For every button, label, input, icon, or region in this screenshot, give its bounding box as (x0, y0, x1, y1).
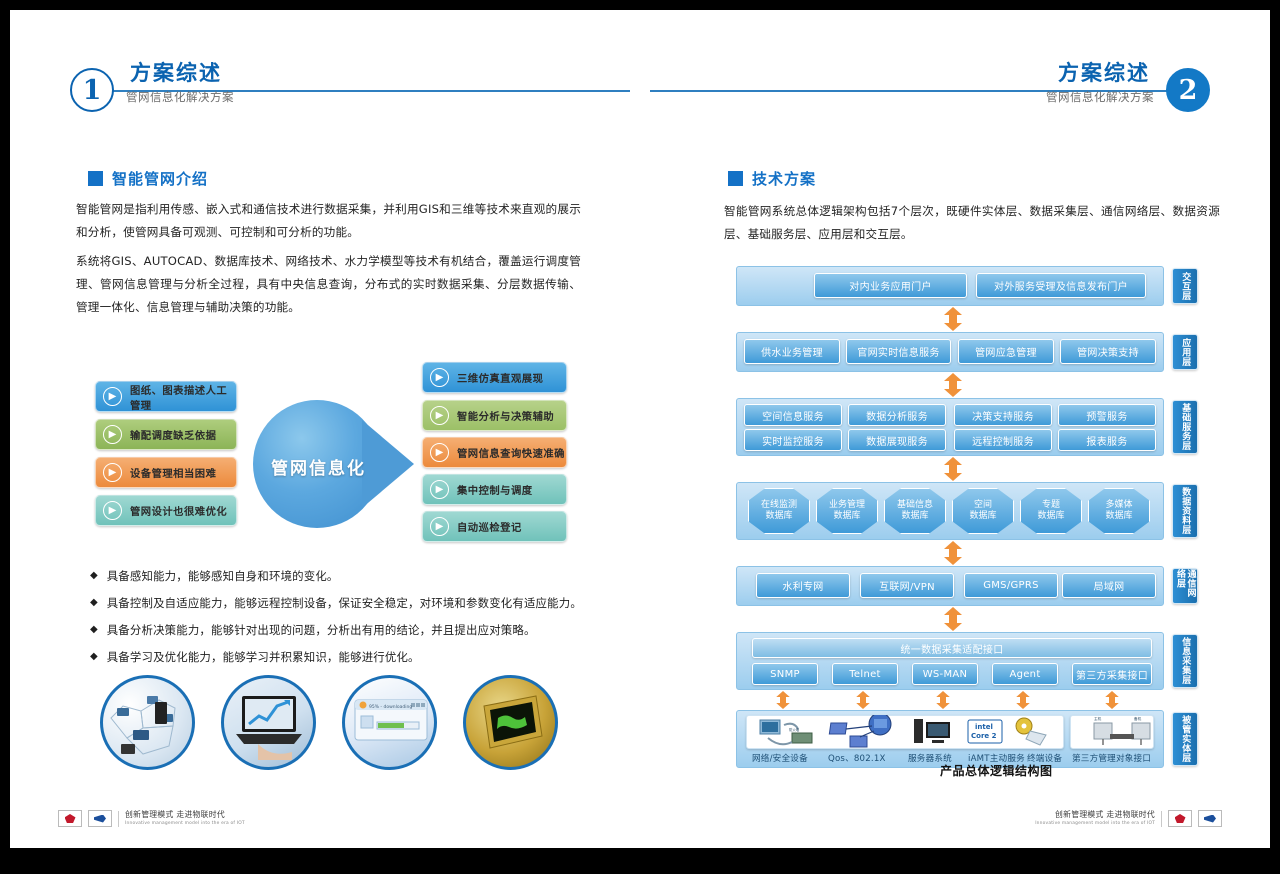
problem-pill-4-label: 管网设计也很难优化 (130, 503, 227, 518)
node-water-private-net: 水利专网 (756, 573, 850, 598)
layer-tag-communication-network: 通信网络层 (1172, 568, 1198, 604)
poster-page: 1 方案综述 管网信息化解决方案 2 方案综述 管网信息化解决方案 智能管网介绍… (10, 10, 1270, 848)
svg-text:intel: intel (975, 723, 993, 731)
chevron-right-icon: ▶ (430, 406, 449, 425)
diamond-bullet-icon: ◆ (90, 595, 98, 611)
node-snmp: SNMP (752, 663, 818, 685)
flow-arrow-icon (943, 607, 963, 631)
flow-arrow-icon (1104, 691, 1120, 709)
list-item: ◆ 具备学习及优化能力，能够学习并积累知识，能够进行优化。 (90, 649, 590, 665)
node-realtime-monitor-service: 实时监控服务 (744, 429, 842, 451)
chevron-right-icon: ▶ (103, 425, 122, 444)
db-multimedia-label: 多媒体数据库 (1105, 500, 1132, 522)
node-telnet: Telnet (832, 663, 898, 685)
managed-entity-icons: 防火墙 intel Core 2 (746, 715, 1154, 749)
problem-pill-3: ▶ 设备管理相当困难 (95, 457, 237, 488)
list-item: ◆ 具备分析决策能力，能够针对出现的问题，分析出有用的结论，并且提出应对策略。 (90, 622, 590, 638)
node-internet-vpn: 互联网/VPN (860, 573, 954, 598)
node-db-spatial: 空间数据库 (952, 488, 1014, 534)
benefit-pill-4-label: 集中控制与调度 (457, 482, 533, 497)
benefit-pill-1: ▶ 三维仿真直观展现 (422, 362, 567, 393)
flow-arrow-icon (1015, 691, 1031, 709)
arrow-head (362, 420, 414, 508)
node-report-service: 报表服务 (1058, 429, 1156, 451)
db-online-monitor-label: 在线监测数据库 (761, 500, 797, 522)
node-decision-support: 管网决策支持 (1060, 339, 1156, 364)
bullet-label-3: 具备分析决策能力，能够针对出现的问题，分析出有用的结论，并且提出应对策略。 (107, 622, 536, 638)
benefit-pill-1-label: 三维仿真直观展现 (457, 370, 543, 385)
right-page-header: 2 方案综述 管网信息化解决方案 (650, 60, 1210, 120)
bullet-label-1: 具备感知能力，能够感知自身和环境的变化。 (107, 568, 339, 584)
architecture-caption: 产品总体逻辑结构图 (940, 762, 1053, 779)
node-gms-gprs: GMS/GPRS (964, 573, 1058, 598)
world-map-monitor-illustration (466, 678, 555, 767)
layer-tag-application: 应用层 (1172, 334, 1198, 370)
svg-text:主机: 主机 (1094, 716, 1102, 721)
benefit-pill-4: ▶ 集中控制与调度 (422, 474, 567, 505)
node-data-presentation-service: 数据展现服务 (848, 429, 946, 451)
node-agent: Agent (992, 663, 1058, 685)
footer-tagline-en: Innovative management model into the era… (1035, 820, 1155, 827)
node-warning-service: 预警服务 (1058, 404, 1156, 426)
footer-divider (1161, 811, 1162, 827)
right-section-title: 技术方案 (752, 168, 816, 189)
node-db-online-monitor: 在线监测数据库 (748, 488, 810, 534)
section-marker-square (88, 171, 103, 186)
left-paragraph-2: 系统将GIS、AUTOCAD、数据库技术、网络技术、水力学模型等技术有机结合，覆… (76, 250, 581, 319)
laptop-growth-chart-illustration (224, 678, 313, 767)
benefit-pill-3: ▶ 管网信息查询快速准确 (422, 437, 567, 468)
problem-pill-3-label: 设备管理相当困难 (130, 465, 216, 480)
chevron-right-icon: ▶ (103, 501, 122, 520)
download-dialog-illustration: 95% - downloading (345, 678, 434, 767)
node-remote-control-service: 远程控制服务 (954, 429, 1052, 451)
footer-divider (118, 811, 119, 827)
left-section-title: 智能管网介绍 (112, 168, 208, 189)
svg-text:Core 2: Core 2 (971, 732, 997, 740)
chevron-right-icon: ▶ (430, 480, 449, 499)
arrow-center-label: 管网信息化 (271, 454, 366, 479)
footer-right: 创新管理模式 走进物联时代 Innovative management mode… (1035, 810, 1222, 827)
benefit-pill-2: ▶ 智能分析与决策辅助 (422, 400, 567, 431)
left-page-title: 方案综述 (126, 60, 226, 86)
left-page-header: 1 方案综述 管网信息化解决方案 (70, 60, 630, 120)
node-lan: 局域网 (1062, 573, 1156, 598)
benefit-pill-3-label: 管网信息查询快速准确 (457, 445, 565, 460)
benefit-pill-2-label: 智能分析与决策辅助 (457, 408, 554, 423)
problem-pill-1-label: 图纸、图表描述人工管理 (130, 382, 236, 412)
node-decision-support-service: 决策支持服务 (954, 404, 1052, 426)
layer-tag-basic-service: 基础服务层 (1172, 400, 1198, 454)
flow-arrow-icon (775, 691, 791, 709)
capability-bullet-list: ◆ 具备感知能力，能够感知自身和环境的变化。 ◆ 具备控制及自适应能力，能够远程… (90, 568, 590, 676)
flow-arrow-icon (943, 307, 963, 331)
diamond-bullet-icon: ◆ (90, 568, 98, 584)
layer-tag-interaction: 交互层 (1172, 268, 1198, 304)
svg-text:备机: 备机 (1134, 716, 1142, 721)
node-db-basic-info: 基础信息数据库 (884, 488, 946, 534)
brand-logo-red-icon (58, 810, 82, 827)
left-paragraph-1: 智能管网是指利用传感、嵌入式和通信技术进行数据采集，并利用GIS和三维等技术来直… (76, 198, 581, 244)
node-db-thematic: 专题数据库 (1020, 488, 1082, 534)
diamond-bullet-icon: ◆ (90, 622, 98, 638)
chevron-right-icon: ▶ (430, 517, 449, 536)
benefit-pill-5-label: 自动巡检登记 (457, 519, 522, 534)
list-item: ◆ 具备控制及自适应能力，能够远程控制设备，保证安全稳定，对环境和参数变化有适应… (90, 595, 590, 611)
layer-tag-data-resource: 数据资料层 (1172, 484, 1198, 538)
chevron-right-icon: ▶ (103, 387, 122, 406)
left-section-heading: 智能管网介绍 (88, 168, 208, 189)
node-ws-man: WS-MAN (912, 663, 978, 685)
left-header-text: 方案综述 管网信息化解决方案 (126, 60, 234, 105)
bullet-label-2: 具备控制及自适应能力，能够远程控制设备，保证安全稳定，对环境和参数变化有适应能力… (107, 595, 582, 611)
node-third-party-collect: 第三方采集接口 (1072, 663, 1152, 685)
footer-tagline-cn: 创新管理模式 走进物联时代 (1035, 810, 1155, 820)
node-emergency-mgmt: 管网应急管理 (958, 339, 1054, 364)
bullet-label-4: 具备学习及优化能力，能够学习并积累知识，能够进行优化。 (107, 649, 420, 665)
node-internal-portal: 对内业务应用门户 (814, 273, 967, 298)
network-topology-photo (100, 675, 195, 770)
hw-label-network-security: 网络/安全设备 (752, 752, 808, 764)
list-item: ◆ 具备感知能力，能够感知自身和环境的变化。 (90, 568, 590, 584)
node-water-business: 供水业务管理 (744, 339, 840, 364)
brand-logo-blue-icon (1198, 810, 1222, 827)
footer-tagline-left: 创新管理模式 走进物联时代 Innovative management mode… (125, 810, 245, 827)
world-map-monitor-photo (463, 675, 558, 770)
diamond-bullet-icon: ◆ (90, 649, 98, 665)
chevron-right-icon: ▶ (430, 368, 449, 387)
db-business-mgmt-label: 业务管理数据库 (829, 500, 865, 522)
laptop-chart-photo (221, 675, 316, 770)
right-paragraph: 智能管网系统总体逻辑架构包括7个层次，既硬件实体层、数据采集层、通信网络层、数据… (724, 200, 1220, 246)
flow-arrow-icon (943, 457, 963, 481)
problem-pill-2: ▶ 输配调度缺乏依据 (95, 419, 237, 450)
problem-pill-1: ▶ 图纸、图表描述人工管理 (95, 381, 237, 412)
db-spatial-label: 空间数据库 (969, 500, 996, 522)
flow-arrow-icon (943, 541, 963, 565)
layer-tag-managed-entity: 被管实体层 (1172, 712, 1198, 766)
flow-arrow-icon (943, 373, 963, 397)
network-topology-illustration (103, 678, 192, 767)
page-number-badge-1: 1 (70, 68, 114, 112)
system-architecture-diagram: 对内业务应用门户 对外服务受理及信息发布门户 交互层 供水业务管理 官网实时信息… (736, 266, 1202, 766)
problem-pill-4: ▶ 管网设计也很难优化 (95, 495, 237, 526)
hw-label-qos: Qos、802.1X (828, 752, 886, 764)
node-realtime-info-service: 官网实时信息服务 (846, 339, 951, 364)
flow-arrow-icon (935, 691, 951, 709)
brand-logo-blue-icon (88, 810, 112, 827)
right-section-heading: 技术方案 (728, 168, 816, 189)
footer-tagline-cn: 创新管理模式 走进物联时代 (125, 810, 245, 820)
right-header-text: 方案综述 管网信息化解决方案 (1046, 60, 1154, 105)
page-number-badge-2: 2 (1166, 68, 1210, 112)
section-marker-square (728, 171, 743, 186)
node-data-analysis-service: 数据分析服务 (848, 404, 946, 426)
chevron-right-icon: ▶ (103, 463, 122, 482)
brand-logo-red-icon (1168, 810, 1192, 827)
svg-text:95% - downloading: 95% - downloading (369, 704, 412, 710)
right-page-title: 方案综述 (1054, 60, 1154, 86)
node-db-business-mgmt: 业务管理数据库 (816, 488, 878, 534)
benefit-pill-5: ▶ 自动巡检登记 (422, 511, 567, 542)
flow-arrow-icon (855, 691, 871, 709)
left-page-subtitle: 管网信息化解决方案 (126, 89, 234, 105)
layer-tag-information-collection: 信息采集层 (1172, 634, 1198, 688)
right-page-subtitle: 管网信息化解决方案 (1046, 89, 1154, 105)
node-spatial-info-service: 空间信息服务 (744, 404, 842, 426)
chevron-right-icon: ▶ (430, 443, 449, 462)
problem-pill-2-label: 输配调度缺乏依据 (130, 427, 216, 442)
footer-left: 创新管理模式 走进物联时代 Innovative management mode… (58, 810, 245, 827)
footer-tagline-en: Innovative management model into the era… (125, 820, 245, 827)
svg-text:防火墙: 防火墙 (789, 727, 800, 732)
footer-tagline-right: 创新管理模式 走进物联时代 Innovative management mode… (1035, 810, 1155, 827)
db-basic-info-label: 基础信息数据库 (897, 500, 933, 522)
node-db-multimedia: 多媒体数据库 (1088, 488, 1150, 534)
db-thematic-label: 专题数据库 (1037, 500, 1064, 522)
node-unified-adapter-interface: 统一数据采集适配接口 (752, 638, 1152, 658)
hw-label-third-party: 第三方管理对象接口 (1072, 752, 1151, 764)
download-progress-photo: 95% - downloading (342, 675, 437, 770)
node-external-portal: 对外服务受理及信息发布门户 (976, 273, 1146, 298)
